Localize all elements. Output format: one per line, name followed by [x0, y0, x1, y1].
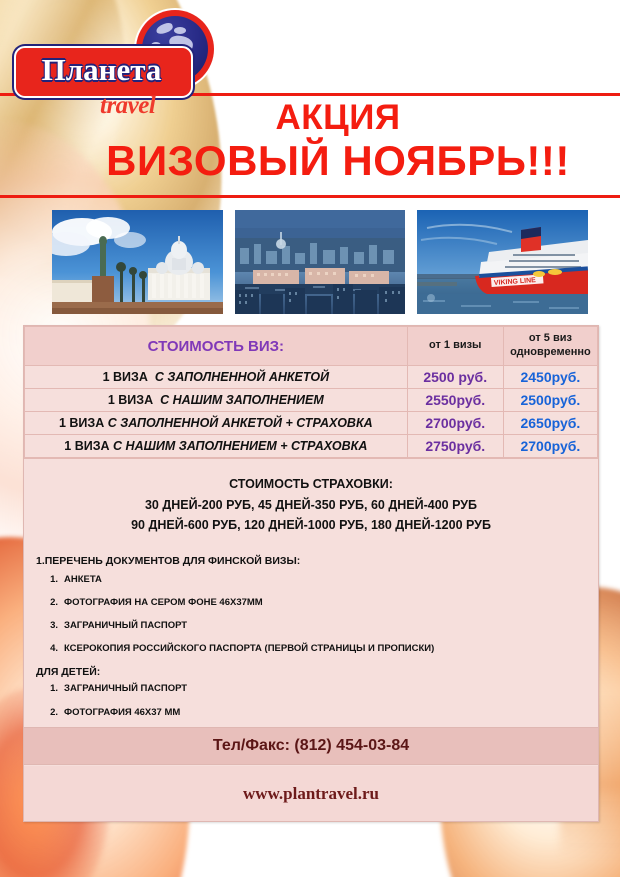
list-item-number: 3. — [42, 620, 58, 631]
price-one: 2700руб. — [407, 412, 503, 435]
price-five: 2650руб. — [503, 412, 597, 435]
flyer-page: Планета travel АКЦИЯ ВИЗОВЫЙ НОЯБРЬ!!! — [0, 0, 620, 877]
price-row-label-rest: С ЗАПОЛНЕННОЙ АНКЕТОЙ + СТРАХОВКА — [108, 416, 373, 430]
list-item-number: 1. — [42, 683, 58, 694]
price-row-label-lead: 1 ВИЗА — [59, 416, 104, 430]
list-item: 3. ЗАГРАНИЧНЫЙ ПАСПОРТ — [64, 620, 586, 631]
website-url[interactable]: www.plantravel.ru — [243, 784, 379, 804]
price-column-five-header-line2: одновременно — [504, 346, 597, 360]
price-column-one-header: от 1 визы — [407, 327, 503, 366]
price-row-label-lead: 1 ВИЗА — [103, 370, 148, 384]
price-row-label-lead: 1 ВИЗА — [108, 393, 153, 407]
price-row-label: 1 ВИЗА С ЗАПОЛНЕННОЙ АНКЕТОЙ + СТРАХОВКА — [25, 412, 408, 435]
price-table-header-row: СТОИМОСТЬ ВИЗ: от 1 визы от 5 виз одновр… — [25, 327, 598, 366]
list-item-label: ЗАГРАНИЧНЫЙ ПАСПОРТ — [64, 620, 187, 631]
documents-heading: 1.ПЕРЕЧЕНЬ ДОКУМЕНТОВ ДЛЯ ФИНСКОЙ ВИЗЫ: — [36, 555, 586, 567]
documents-section: 1.ПЕРЕЧЕНЬ ДОКУМЕНТОВ ДЛЯ ФИНСКОЙ ВИЗЫ: … — [24, 545, 598, 742]
documents-list: 1. АНКЕТА 2. ФОТОГРАФИЯ НА СЕРОМ ФОНЕ 46… — [64, 574, 586, 654]
insurance-title: СТОИМОСТЬ СТРАХОВКИ: — [34, 475, 588, 494]
table-row: 1 ВИЗА С НАШИМ ЗАПОЛНЕНИЕМ 2550руб. 2500… — [25, 389, 598, 412]
info-card: СТОИМОСТЬ ВИЗ: от 1 визы от 5 виз одновр… — [23, 325, 599, 822]
price-column-five-header: от 5 виз одновременно — [503, 327, 597, 366]
insurance-line-1: 30 ДНЕЙ-200 РУБ, 45 ДНЕЙ-350 РУБ, 60 ДНЕ… — [34, 496, 588, 515]
price-one: 2550руб. — [407, 389, 503, 412]
list-item-number: 4. — [42, 643, 58, 654]
phone-number: Тел/Факс: (812) 454-03-84 — [213, 737, 409, 755]
price-five: 2450руб. — [503, 366, 597, 389]
documents-kids-heading: ДЛЯ ДЕТЕЙ: — [36, 666, 586, 678]
price-row-label: 1 ВИЗА С ЗАПОЛНЕННОЙ АНКЕТОЙ — [25, 366, 408, 389]
website-bar: www.plantravel.ru — [24, 766, 598, 821]
price-one: 2500 руб. — [407, 366, 503, 389]
photo-strip: VIKING LINE — [52, 210, 588, 314]
price-row-label-rest: С ЗАПОЛНЕННОЙ АНКЕТОЙ — [155, 370, 329, 384]
phone-bar: Тел/Факс: (812) 454-03-84 — [24, 727, 598, 765]
list-item-number: 1. — [42, 574, 58, 585]
headline-line-1: АКЦИЯ — [60, 100, 616, 136]
list-item: 1. АНКЕТА — [64, 574, 586, 585]
list-item-label: ФОТОГРАФИЯ НА СЕРОМ ФОНЕ 46Х37ММ — [64, 597, 263, 608]
list-item-label: ФОТОГРАФИЯ 46Х37 ММ — [64, 707, 180, 718]
insurance-section: СТОИМОСТЬ СТРАХОВКИ: 30 ДНЕЙ-200 РУБ, 45… — [24, 458, 598, 545]
price-row-label-lead: 1 ВИЗА — [64, 439, 109, 453]
list-item-number: 2. — [42, 707, 58, 718]
price-table: СТОИМОСТЬ ВИЗ: от 1 визы от 5 виз одновр… — [24, 326, 598, 458]
price-row-label-rest: С НАШИМ ЗАПОЛНЕНИЕМ — [160, 393, 324, 407]
table-row: 1 ВИЗА С НАШИМ ЗАПОЛНЕНИЕМ + СТРАХОВКА 2… — [25, 435, 598, 458]
list-item: 4. КСЕРОКОПИЯ РОССИЙСКОГО ПАСПОРТА (ПЕРВ… — [64, 643, 586, 654]
list-item-label: ЗАГРАНИЧНЫЙ ПАСПОРТ — [64, 683, 187, 694]
city-skyline-dusk-photo — [235, 210, 406, 314]
brand-name: Планета — [14, 46, 189, 94]
table-row: 1 ВИЗА С ЗАПОЛНЕННОЙ АНКЕТОЙ 2500 руб. 2… — [25, 366, 598, 389]
table-row: 1 ВИЗА С ЗАПОЛНЕННОЙ АНКЕТОЙ + СТРАХОВКА… — [25, 412, 598, 435]
price-row-label-rest: С НАШИМ ЗАПОЛНЕНИЕМ + СТРАХОВКА — [113, 439, 367, 453]
list-item-label: КСЕРОКОПИЯ РОССИЙСКОГО ПАСПОРТА (ПЕРВОЙ … — [64, 643, 434, 654]
headline: АКЦИЯ ВИЗОВЫЙ НОЯБРЬ!!! — [60, 100, 616, 183]
list-item-label: АНКЕТА — [64, 574, 102, 585]
helsinki-cathedral-photo — [52, 210, 223, 314]
red-divider-below-headline — [0, 195, 620, 198]
price-row-label: 1 ВИЗА С НАШИМ ЗАПОЛНЕНИЕМ + СТРАХОВКА — [25, 435, 408, 458]
price-table-title: СТОИМОСТЬ ВИЗ: — [25, 327, 408, 366]
viking-line-ferry-photo: VIKING LINE — [417, 210, 588, 314]
price-five: 2700руб. — [503, 435, 597, 458]
insurance-line-2: 90 ДНЕЙ-600 РУБ, 120 ДНЕЙ-1000 РУБ, 180 … — [34, 516, 588, 535]
price-five: 2500руб. — [503, 389, 597, 412]
headline-line-2: ВИЗОВЫЙ НОЯБРЬ!!! — [60, 140, 616, 183]
list-item-number: 2. — [42, 597, 58, 608]
price-row-label: 1 ВИЗА С НАШИМ ЗАПОЛНЕНИЕМ — [25, 389, 408, 412]
list-item: 1. ЗАГРАНИЧНЫЙ ПАСПОРТ — [64, 683, 586, 694]
globe-landmass — [174, 27, 186, 34]
list-item: 2. ФОТОГРАФИЯ НА СЕРОМ ФОНЕ 46Х37ММ — [64, 597, 586, 608]
price-one: 2750руб. — [407, 435, 503, 458]
price-column-five-header-line1: от 5 виз — [504, 332, 597, 346]
list-item: 2. ФОТОГРАФИЯ 46Х37 ММ — [64, 707, 586, 718]
globe-landmass — [155, 22, 174, 36]
